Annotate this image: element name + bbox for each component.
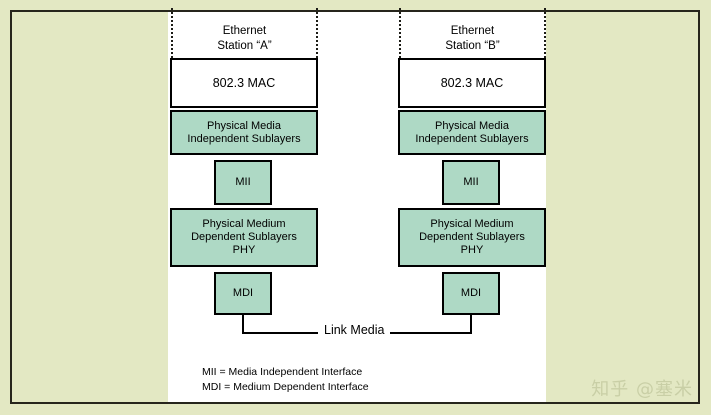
station-a-mii-box: MII <box>214 160 272 205</box>
page-root: Ethernet Station “A” 802.3 MAC Physical … <box>0 0 711 415</box>
station-b-pmi-line2: Independent Sublayers <box>415 133 528 145</box>
station-a-mii-label: MII <box>235 176 250 189</box>
station-b-mii-box: MII <box>442 160 500 205</box>
station-b-pmd-line1: Physical Medium <box>430 218 513 230</box>
station-a-pmd-line2: Dependent Sublayers <box>191 231 297 243</box>
station-b-title-line2: Station “B” <box>399 39 546 54</box>
station-b-pmi-box: Physical Media Independent Sublayers <box>398 110 546 155</box>
watermark: 知乎 @塞米 <box>591 375 693 401</box>
link-media-label: Link Media <box>318 323 390 337</box>
station-a-title-line2: Station “A” <box>171 39 318 54</box>
station-a-link-lead <box>242 313 244 333</box>
station-b-pmd-line2: Dependent Sublayers <box>419 231 525 243</box>
station-a-title-line1: Ethernet <box>171 24 318 39</box>
station-a-pmi-line1: Physical Media <box>207 120 281 132</box>
station-a-title: Ethernet Station “A” <box>171 24 318 53</box>
station-b-pmi-label: Physical Media Independent Sublayers <box>415 120 528 146</box>
station-b-mac-box: 802.3 MAC <box>398 58 546 108</box>
station-a-pmi-box: Physical Media Independent Sublayers <box>170 110 318 155</box>
station-a-mdi-label: MDI <box>233 287 253 300</box>
station-b-mdi-box: MDI <box>442 272 500 315</box>
station-a-pmd-line3: PHY <box>233 244 256 256</box>
station-b-mac-label: 802.3 MAC <box>441 76 504 91</box>
station-a-mac-box: 802.3 MAC <box>170 58 318 108</box>
diagram-panel: Ethernet Station “A” 802.3 MAC Physical … <box>168 12 546 402</box>
legend-line-mii: MII = Media Independent Interface <box>202 365 369 380</box>
station-b-title: Ethernet Station “B” <box>399 24 546 53</box>
station-b-pmd-line3: PHY <box>461 244 484 256</box>
station-a-pmd-label: Physical Medium Dependent Sublayers PHY <box>191 218 297 257</box>
station-b-pmi-line1: Physical Media <box>435 120 509 132</box>
station-a-mdi-box: MDI <box>214 272 272 315</box>
legend: MII = Media Independent Interface MDI = … <box>202 365 369 395</box>
station-b-pmd-box: Physical Medium Dependent Sublayers PHY <box>398 208 546 267</box>
station-a-pmi-label: Physical Media Independent Sublayers <box>187 120 300 146</box>
station-a-pmd-box: Physical Medium Dependent Sublayers PHY <box>170 208 318 267</box>
station-a-mac-label: 802.3 MAC <box>213 76 276 91</box>
station-b-link-lead <box>470 313 472 333</box>
station-b-mii-label: MII <box>463 176 478 189</box>
station-a-pmi-line2: Independent Sublayers <box>187 133 300 145</box>
station-b-title-line1: Ethernet <box>399 24 546 39</box>
station-b-pmd-label: Physical Medium Dependent Sublayers PHY <box>419 218 525 257</box>
station-a-pmd-line1: Physical Medium <box>202 218 285 230</box>
station-b-mdi-label: MDI <box>461 287 481 300</box>
legend-line-mdi: MDI = Medium Dependent Interface <box>202 380 369 395</box>
